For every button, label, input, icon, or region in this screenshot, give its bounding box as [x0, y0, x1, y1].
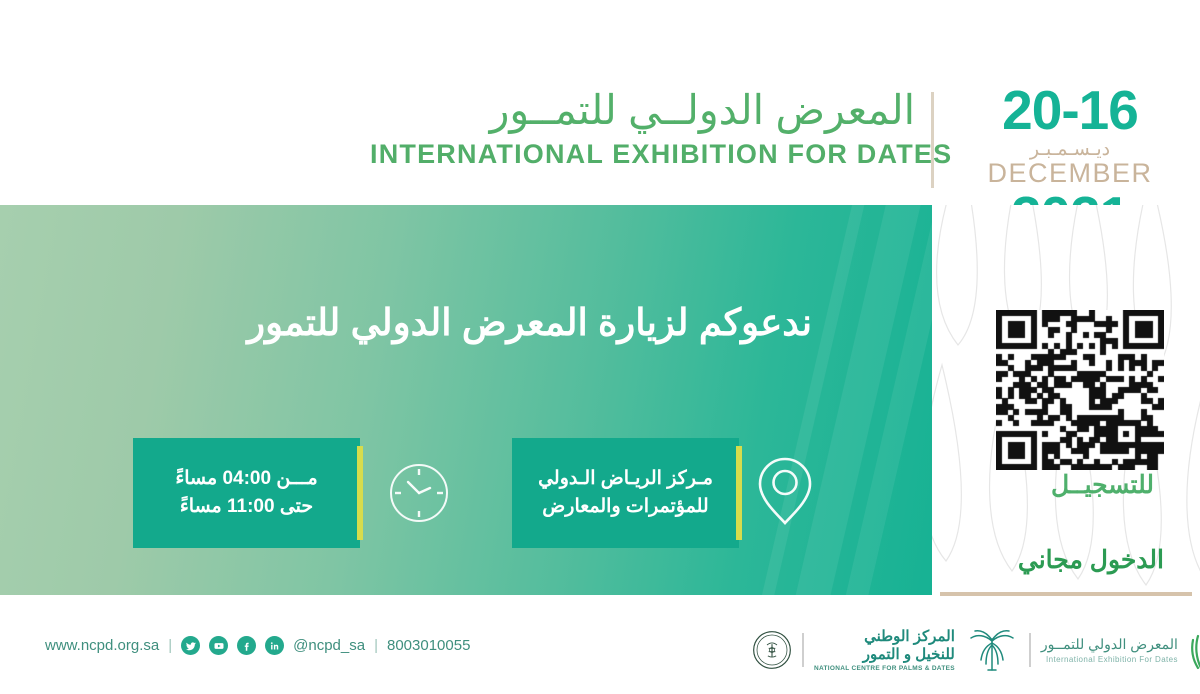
phone-number[interactable]: 8003010055: [387, 637, 470, 654]
palm-tree-icon: [965, 627, 1019, 673]
footer-separator-2: |: [374, 637, 378, 654]
twitter-icon[interactable]: [181, 636, 200, 655]
opening-hours-text: مـــن 04:00 مساءً حتى 11:00 مساءً: [161, 465, 331, 522]
social-handle[interactable]: @ncpd_sa: [293, 637, 365, 654]
exhibition-name-arabic: المعرض الدولي للتمــور: [1041, 636, 1178, 653]
website-link[interactable]: www.ncpd.org.sa: [45, 637, 159, 654]
ncpd-name-english: NATIONAL CENTRE FOR PALMS & DATES: [814, 665, 955, 672]
linkedin-icon[interactable]: [265, 636, 284, 655]
banner-headline: ندعوكم لزيارة المعرض الدولي للتمور: [0, 300, 812, 346]
header-title-block: المعرض الدولــي للتمــور INTERNATIONAL E…: [370, 88, 915, 170]
saudi-national-emblem-icon: [752, 630, 792, 670]
clock-icon: [376, 450, 462, 536]
exhibition-title-english: INTERNATIONAL EXHIBITION FOR DATES: [370, 139, 915, 170]
footer-contact-bar: www.ncpd.org.sa | @ncpd_sa | 8003010055: [45, 636, 470, 655]
venue-box: مـركز الريـاض الـدولي للمؤتمرات والمعارض: [512, 438, 739, 548]
ncpd-name-arabic: المركز الوطني للنخيل و التمور: [814, 628, 955, 663]
date-day-range: 20-16: [955, 84, 1185, 136]
opening-hours-box: مـــن 04:00 مساءً حتى 11:00 مساءً: [133, 438, 360, 548]
free-entry-label: الدخول مجاني: [932, 545, 1182, 575]
qr-code-canvas[interactable]: [996, 310, 1164, 470]
panel-bottom-rule: [940, 592, 1192, 596]
green-leaf-icon: [1188, 626, 1200, 674]
registration-label: للتسجيــل: [932, 470, 1182, 500]
youtube-icon[interactable]: [209, 636, 228, 655]
footer-separator-1: |: [168, 637, 172, 654]
event-poster: المعرض الدولــي للتمــور INTERNATIONAL E…: [0, 0, 1200, 694]
header-vertical-divider: [931, 92, 934, 188]
exhibition-logo-text: المعرض الدولي للتمــور International Exh…: [1041, 636, 1178, 664]
logo-divider: [802, 633, 804, 667]
qr-code[interactable]: [996, 310, 1164, 470]
venue-text: مـركز الريـاض الـدولي للمؤتمرات والمعارض: [524, 465, 727, 522]
lime-accent-bar: [357, 446, 363, 540]
ncpd-logo-text: المركز الوطني للنخيل و التمور NATIONAL C…: [814, 628, 955, 672]
logo-divider: [1029, 633, 1031, 667]
exhibition-name-english: International Exhibition For Dates: [1041, 655, 1178, 664]
footer-logo-bar: المركز الوطني للنخيل و التمور NATIONAL C…: [752, 624, 1200, 676]
event-info-row: مـــن 04:00 مساءً حتى 11:00 مساءً مـركز …: [0, 438, 932, 550]
location-pin-icon: [742, 448, 828, 534]
facebook-icon[interactable]: [237, 636, 256, 655]
exhibition-title-arabic: المعرض الدولــي للتمــور: [370, 88, 915, 133]
